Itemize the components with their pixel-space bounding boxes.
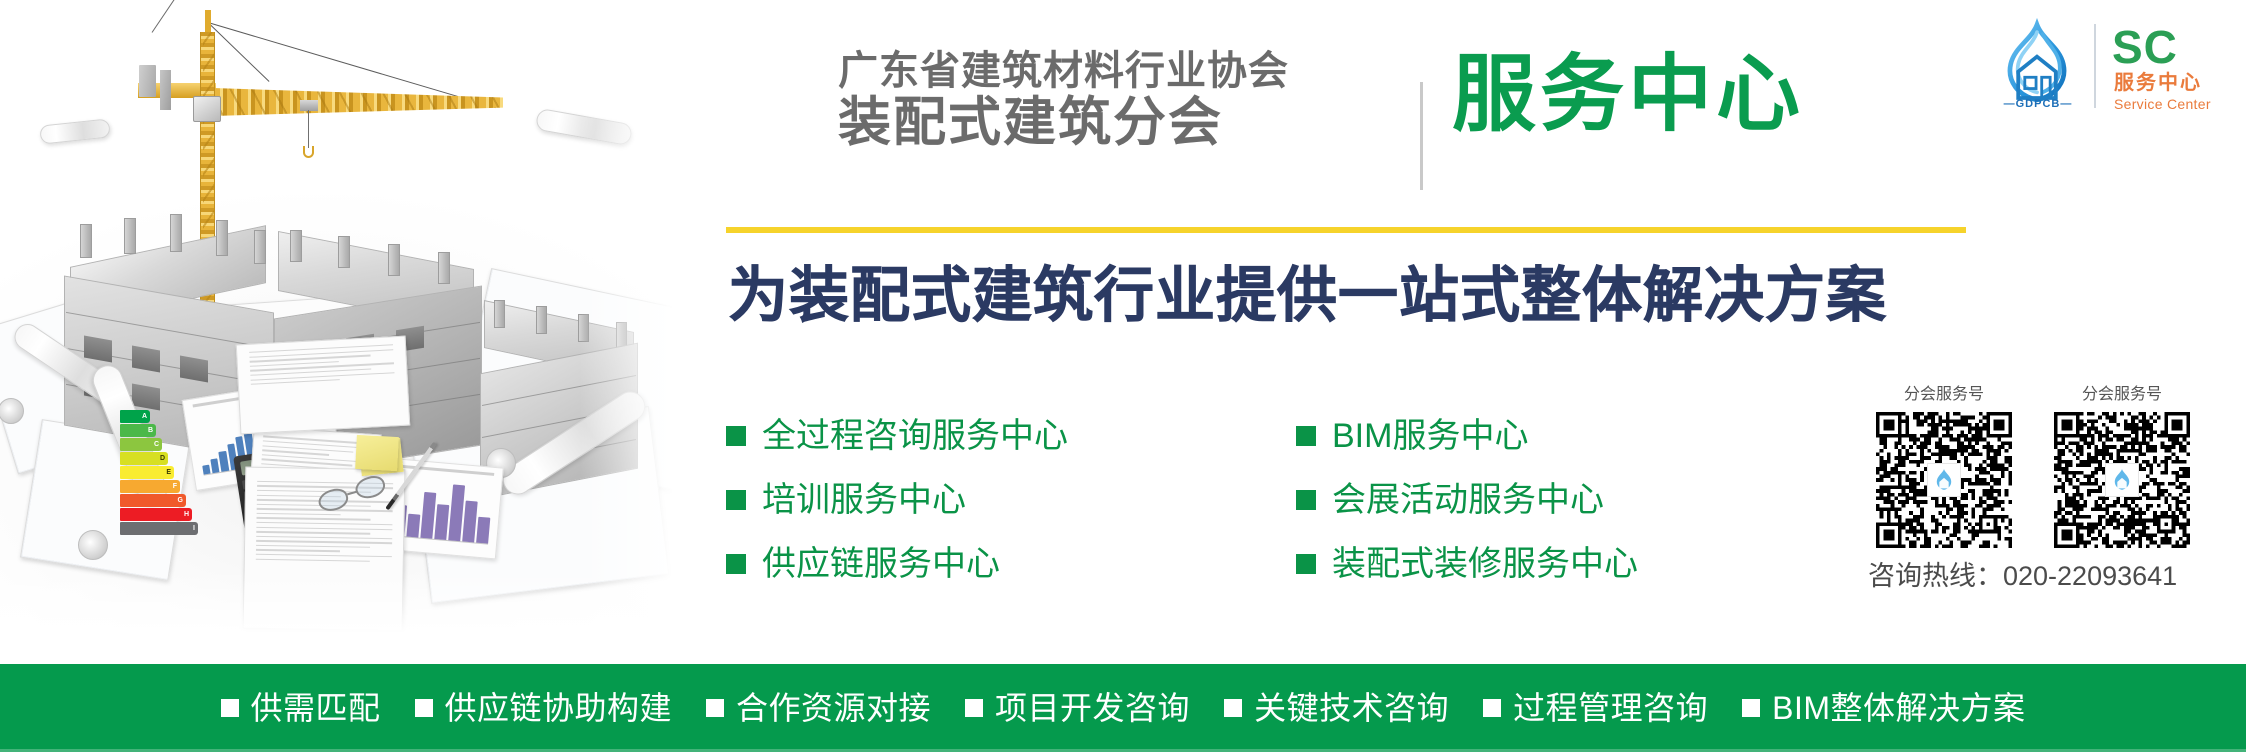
service-item[interactable]: BIM服务中心	[1296, 404, 1638, 468]
logo-gdpcb-text: —GDPCB—	[1988, 98, 2088, 110]
logo-sc-abbrev: SC	[2112, 24, 2178, 70]
square-bullet-icon	[726, 554, 746, 574]
service-list-left-column: 全过程咨询服务中心 培训服务中心 供应链服务中心	[726, 404, 1068, 596]
service-list-right-column: BIM服务中心 会展活动服务中心 装配式装修服务中心	[1296, 404, 1638, 596]
bottom-bar-item-label: 供需匹配	[251, 690, 381, 726]
energy-grade-bar: B	[120, 424, 156, 437]
crane-counterweight	[139, 65, 156, 97]
square-bullet-icon	[726, 426, 746, 446]
service-item-label: 装配式装修服务中心	[1332, 545, 1638, 583]
energy-grade-bar: C	[120, 438, 162, 451]
bottom-bar-item-label: 项目开发咨询	[995, 690, 1190, 726]
square-bullet-icon	[726, 490, 746, 510]
title-vertical-divider	[1420, 82, 1423, 190]
qr-code-block[interactable]: 分会服务号	[1862, 386, 2026, 548]
service-item-label: 会展活动服务中心	[1332, 481, 1604, 519]
association-title-block: 广东省建筑材料行业协会 装配式建筑分会	[838, 48, 1289, 152]
energy-grade-bar: G	[120, 494, 186, 507]
square-bullet-icon	[706, 699, 724, 717]
banner-root: ABCDEFGHI	[0, 0, 2246, 752]
yellow-divider-rule	[726, 227, 1966, 233]
energy-grade-bar: F	[120, 480, 180, 493]
bottom-bar-item-label: 关键技术咨询	[1254, 690, 1449, 726]
association-branch-line2: 装配式建筑分会	[838, 94, 1289, 152]
logo-lockup[interactable]: —GDPCB— SC 服务中心 Service Center	[1988, 14, 2236, 116]
rolled-blueprint-end	[78, 530, 108, 560]
square-bullet-icon	[1296, 490, 1316, 510]
crane-hook	[303, 146, 314, 158]
energy-efficiency-label: ABCDEFGHI	[120, 410, 206, 538]
crane-counterweight	[160, 70, 171, 110]
service-item-label: 培训服务中心	[762, 481, 966, 519]
bottom-bar-item-label: BIM整体解决方案	[1772, 690, 2025, 726]
energy-grade-bar: D	[120, 452, 168, 465]
service-item-label: BIM服务中心	[1332, 417, 1528, 455]
crane-operator-cab	[193, 96, 221, 122]
service-item[interactable]: 会展活动服务中心	[1296, 468, 1638, 532]
association-name-line1: 广东省建筑材料行业协会	[838, 48, 1289, 94]
bottom-services-bar: 供需匹配 供应链协助构建 合作资源对接 项目开发咨询 关键技术咨询 过程管理咨询…	[0, 664, 2246, 752]
square-bullet-icon	[1296, 426, 1316, 446]
square-bullet-icon	[1742, 699, 1760, 717]
logo-vertical-divider	[2094, 24, 2096, 108]
bottom-bar-item[interactable]: 合作资源对接	[706, 690, 931, 726]
square-bullet-icon	[1483, 699, 1501, 717]
hotline-text: 咨询热线：020-22093641	[1868, 560, 2177, 592]
service-item-label: 全过程咨询服务中心	[762, 417, 1068, 455]
square-bullet-icon	[965, 699, 983, 717]
service-item-label: 供应链服务中心	[762, 545, 1000, 583]
service-center-heading: 服务中心	[1452, 46, 1804, 142]
bottom-bar-item[interactable]: 过程管理咨询	[1483, 690, 1708, 726]
bottom-bar-item[interactable]: BIM整体解决方案	[1742, 690, 2025, 726]
square-bullet-icon	[221, 699, 239, 717]
hero-construction-image: ABCDEFGHI	[0, 0, 700, 640]
qr-code-image[interactable]	[1876, 412, 2012, 548]
hero-edge-fade-bottom	[0, 570, 700, 640]
hero-edge-fade	[580, 0, 700, 640]
qr-code-caption: 分会服务号	[2040, 386, 2204, 404]
square-bullet-icon	[1296, 554, 1316, 574]
qr-code-caption: 分会服务号	[1862, 386, 2026, 404]
energy-grade-bar: A	[120, 410, 150, 423]
energy-grade-bar: I	[120, 522, 198, 535]
bottom-bar-item-label: 供应链协助构建	[445, 690, 673, 726]
logo-sc-chinese: 服务中心	[2114, 72, 2202, 94]
bottom-bar-item[interactable]: 供需匹配	[221, 690, 381, 726]
mortgage-application-form	[236, 336, 410, 435]
qr-code-block[interactable]: 分会服务号	[2040, 386, 2204, 548]
square-bullet-icon	[415, 699, 433, 717]
qr-center-logo-icon	[2105, 463, 2139, 497]
qr-center-logo-icon	[1927, 463, 1961, 497]
bottom-bar-item-label: 过程管理咨询	[1513, 690, 1708, 726]
sticky-note	[355, 435, 399, 471]
bottom-bar-item-label: 合作资源对接	[736, 690, 931, 726]
bottom-bar-item[interactable]: 供应链协助构建	[415, 690, 673, 726]
bottom-bar-item[interactable]: 关键技术咨询	[1224, 690, 1449, 726]
energy-grade-bar: H	[120, 508, 192, 521]
bottom-bar-item[interactable]: 项目开发咨询	[965, 690, 1190, 726]
crane-hoist-line	[308, 110, 309, 148]
square-bullet-icon	[1224, 699, 1242, 717]
crane-trolley	[300, 100, 318, 111]
service-item[interactable]: 培训服务中心	[726, 468, 1068, 532]
logo-sc-english: Service Center	[2114, 96, 2211, 112]
qr-code-image[interactable]	[2054, 412, 2190, 548]
energy-grade-bar: E	[120, 466, 174, 479]
tagline-text: 为装配式建筑行业提供一站式整体解决方案	[728, 262, 1887, 330]
service-item[interactable]: 供应链服务中心	[726, 532, 1068, 596]
service-item[interactable]: 装配式装修服务中心	[1296, 532, 1638, 596]
service-item[interactable]: 全过程咨询服务中心	[726, 404, 1068, 468]
